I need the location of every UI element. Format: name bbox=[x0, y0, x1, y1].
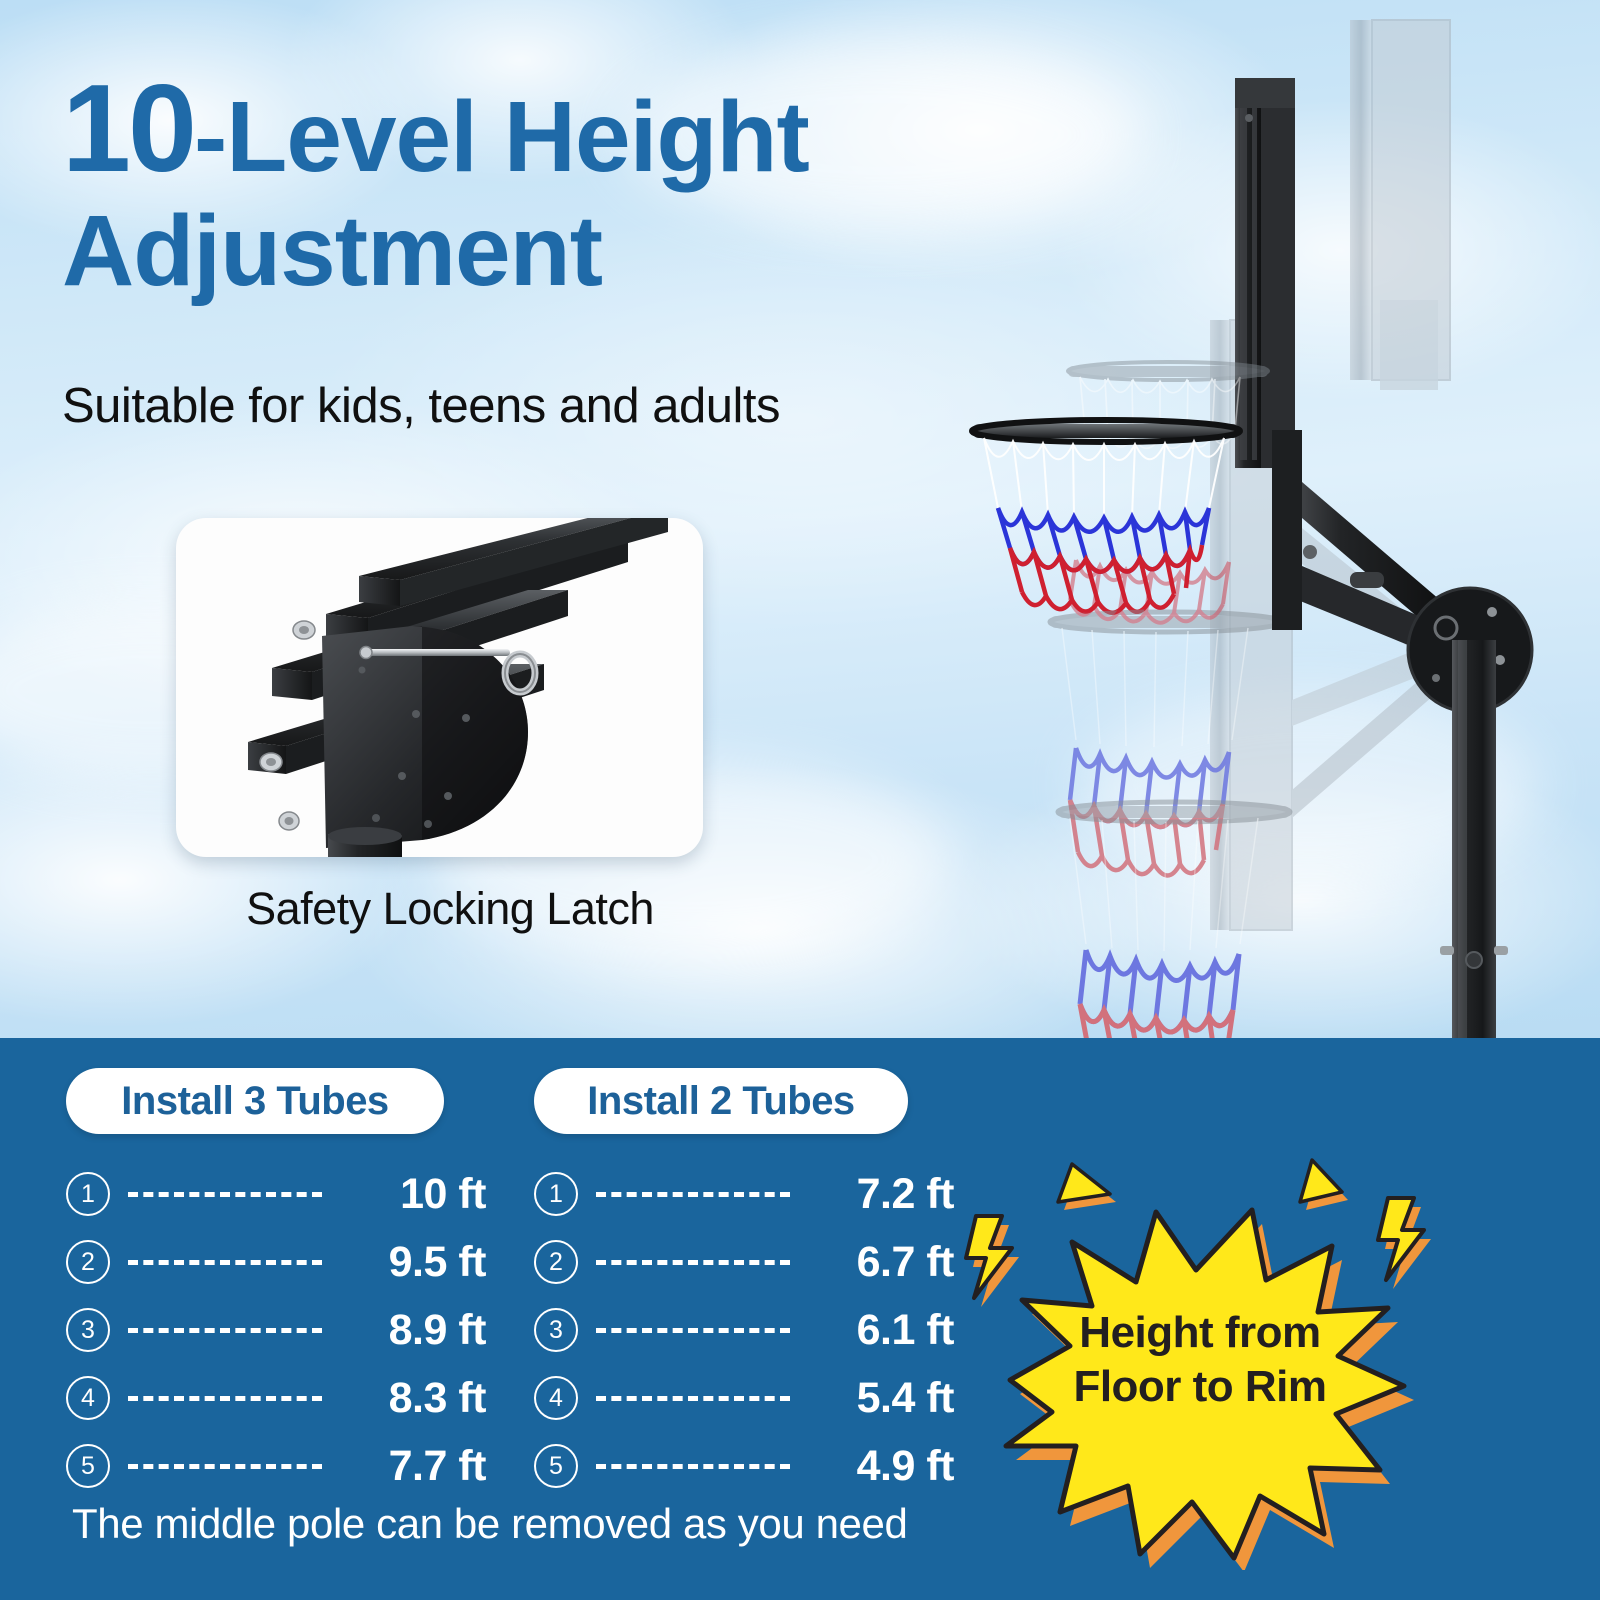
infographic-page: 10-Level Height Adjustment Suitable for … bbox=[0, 0, 1600, 1600]
list-item: 2 9.5 ft bbox=[66, 1228, 486, 1296]
latch-housing-plate bbox=[322, 626, 528, 848]
lightning-bolt-left bbox=[966, 1216, 1019, 1307]
starburst-shape bbox=[960, 1150, 1440, 1570]
list-item: 4 5.4 ft bbox=[534, 1364, 954, 1432]
safety-latch-card bbox=[176, 518, 703, 857]
height-value: 6.1 ft bbox=[804, 1306, 954, 1355]
list-item: 3 8.9 ft bbox=[66, 1296, 486, 1364]
list-index: 2 bbox=[534, 1240, 578, 1284]
height-callout-badge: Height from Floor to Rim bbox=[960, 1150, 1440, 1570]
page-subtitle: Suitable for kids, teens and adults bbox=[62, 378, 780, 434]
list-index: 5 bbox=[66, 1444, 110, 1488]
height-value: 8.3 ft bbox=[336, 1374, 486, 1423]
page-title: 10-Level Height Adjustment bbox=[62, 66, 1022, 303]
list-index: 1 bbox=[534, 1172, 578, 1216]
dashed-leader bbox=[128, 1260, 322, 1265]
list-item: 4 8.3 ft bbox=[66, 1364, 486, 1432]
list-index: 2 bbox=[66, 1240, 110, 1284]
height-value: 4.9 ft bbox=[804, 1442, 954, 1491]
install-3-tubes-title: Install 3 Tubes bbox=[66, 1068, 444, 1134]
dashed-leader bbox=[596, 1464, 790, 1469]
latch-card-caption: Safety Locking Latch bbox=[190, 883, 710, 935]
install-3-tubes-list: 1 10 ft 2 9.5 ft 3 8.9 ft 4 8.3 ft 5 7.7… bbox=[66, 1160, 486, 1500]
dashed-leader bbox=[596, 1396, 790, 1401]
height-value: 7.2 ft bbox=[804, 1170, 954, 1219]
headline-line2: Adjustment bbox=[62, 200, 1022, 303]
list-item: 3 6.1 ft bbox=[534, 1296, 954, 1364]
list-item: 5 4.9 ft bbox=[534, 1432, 954, 1500]
dashed-leader bbox=[128, 1192, 322, 1197]
install-2-tubes-list: 1 7.2 ft 2 6.7 ft 3 6.1 ft 4 5.4 ft 5 4.… bbox=[534, 1160, 954, 1500]
safety-latch-illustration bbox=[176, 518, 703, 857]
ghost-backboard-top bbox=[1350, 20, 1450, 390]
dashed-leader bbox=[128, 1464, 322, 1469]
dashed-leader bbox=[596, 1260, 790, 1265]
install-2-tubes-title: Install 2 Tubes bbox=[534, 1068, 908, 1134]
height-value: 8.9 ft bbox=[336, 1306, 486, 1355]
headline-rest: -Level Height bbox=[194, 81, 809, 193]
list-index: 4 bbox=[66, 1376, 110, 1420]
list-item: 1 10 ft bbox=[66, 1160, 486, 1228]
dashed-leader bbox=[596, 1328, 790, 1333]
height-value: 6.7 ft bbox=[804, 1238, 954, 1287]
height-value: 10 ft bbox=[336, 1170, 486, 1219]
list-index: 4 bbox=[534, 1376, 578, 1420]
backboard-primary bbox=[1235, 78, 1295, 468]
list-index: 5 bbox=[534, 1444, 578, 1488]
list-item: 1 7.2 ft bbox=[534, 1160, 954, 1228]
headline-number: 10 bbox=[62, 60, 194, 198]
dashed-leader bbox=[128, 1328, 322, 1333]
rim-primary bbox=[972, 420, 1240, 613]
list-item: 5 7.7 ft bbox=[66, 1432, 486, 1500]
triangle-spark-left bbox=[1058, 1164, 1116, 1210]
latch-pole bbox=[328, 827, 402, 857]
list-index: 3 bbox=[534, 1308, 578, 1352]
dashed-leader bbox=[596, 1192, 790, 1197]
height-value: 7.7 ft bbox=[336, 1442, 486, 1491]
dashed-leader bbox=[128, 1396, 322, 1401]
height-value: 5.4 ft bbox=[804, 1374, 954, 1423]
list-item: 2 6.7 ft bbox=[534, 1228, 954, 1296]
height-value: 9.5 ft bbox=[336, 1238, 486, 1287]
lightning-bolt-right bbox=[1378, 1198, 1431, 1289]
triangle-spark-right bbox=[1300, 1160, 1348, 1210]
band-note: The middle pole can be removed as you ne… bbox=[72, 1500, 907, 1548]
list-index: 1 bbox=[66, 1172, 110, 1216]
list-index: 3 bbox=[66, 1308, 110, 1352]
